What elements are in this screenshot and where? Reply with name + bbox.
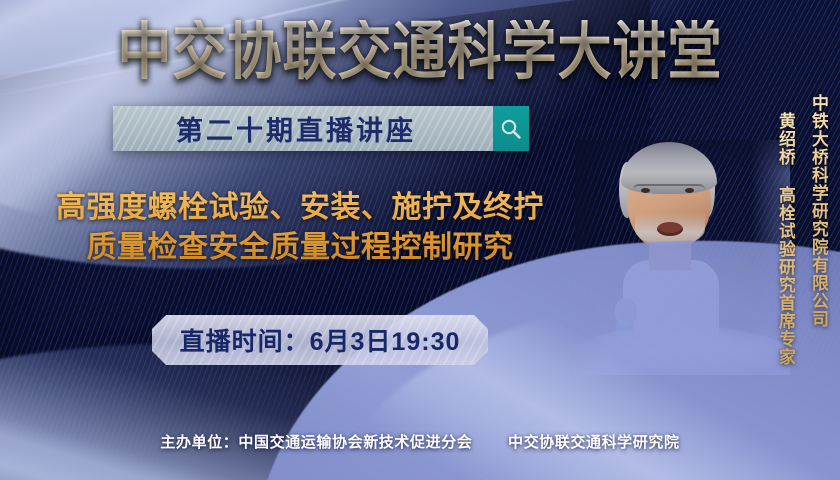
lecture-headline-line2: 质量检查安全质量过程控制研究 xyxy=(8,228,592,268)
page-title: 中交协联交通科学大讲堂 xyxy=(0,20,840,84)
livestream-poster: 中交协联交通科学大讲堂 第二十期直播讲座 高强度螺栓试验、安装、施拧及终拧 质量… xyxy=(0,0,840,480)
search-icon[interactable] xyxy=(493,106,529,151)
episode-banner-label: 第二十期直播讲座 xyxy=(113,106,493,151)
lecture-headline: 高强度螺栓试验、安装、施拧及终拧 质量检查安全质量过程控制研究 xyxy=(8,188,592,267)
episode-banner: 第二十期直播讲座 xyxy=(113,106,529,151)
broadcast-time-badge: 直播时间：6月3日19:30 xyxy=(152,315,488,365)
organizer-footer-prefix: 主办单位：中国交通运输协会新技术促进分会 xyxy=(160,434,472,451)
organizer-footer-suffix: 中交协联交通科学研究院 xyxy=(508,434,680,451)
lecture-headline-line1: 高强度螺栓试验、安装、施拧及终拧 xyxy=(56,191,544,224)
speaker-organization: 中铁大桥科学研究院有限公司 xyxy=(808,94,828,328)
organizer-footer: 主办单位：中国交通运输协会新技术促进分会 中交协联交通科学研究院 xyxy=(0,431,840,452)
speaker-name-title: 黄绍桥 高栓试验研究首席专家 xyxy=(775,112,795,366)
